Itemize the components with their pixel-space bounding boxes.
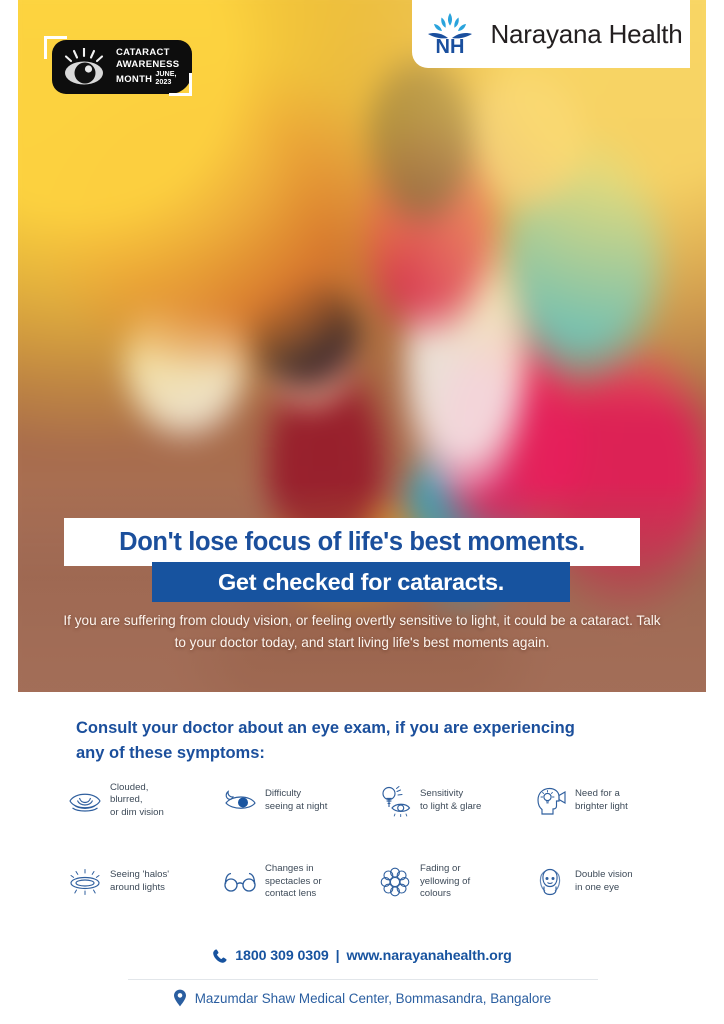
symptom-item-clouded-vision: Clouded,blurred,or dim vision <box>68 782 223 819</box>
symptom-label: Changes inspectacles orcontact lens <box>265 863 322 900</box>
eyeglasses-icon <box>223 865 257 899</box>
colour-flower-icon <box>378 865 412 899</box>
symptom-label: Sensitivityto light & glare <box>420 788 481 813</box>
headline-primary: Don't lose focus of life's best moments. <box>119 528 585 557</box>
symptom-item-double-vision: Double visionin one eye <box>533 863 688 900</box>
symptoms-grid: Clouded,blurred,or dim vision Difficulty… <box>68 782 668 900</box>
footer-separator: | <box>336 948 340 964</box>
symptom-item-colour-fading: Fading oryellowing ofcolours <box>378 863 533 900</box>
open-eye-icon <box>62 48 108 93</box>
svg-text:NH: NH <box>436 36 465 56</box>
footer-website[interactable]: www.narayanahealth.org <box>347 948 512 964</box>
symptom-label: Difficultyseeing at night <box>265 788 327 813</box>
symptom-label: Clouded,blurred,or dim vision <box>110 782 164 819</box>
poster: CATARACT AWARENESS MONTH JUNE, 2023 <box>0 0 724 1024</box>
halo-rings-icon <box>68 865 102 899</box>
footer-divider <box>128 979 598 980</box>
symptoms-heading: Consult your doctor about an eye exam, i… <box>76 716 596 766</box>
badge-line-1: CATARACT <box>116 47 192 59</box>
symptom-label: Fading oryellowing ofcolours <box>420 863 470 900</box>
head-lightbulb-icon <box>533 784 567 818</box>
footer-address-line: Mazumdar Shaw Medical Center, Bommasandr… <box>0 989 724 1007</box>
symptom-item-halos: Seeing 'halos'around lights <box>68 863 223 900</box>
symptom-label: Seeing 'halos'around lights <box>110 869 169 894</box>
double-face-icon <box>533 865 567 899</box>
symptom-item-brighter-light: Need for abrighter light <box>533 782 688 819</box>
symptom-label: Need for abrighter light <box>575 788 628 813</box>
footer-contact-line[interactable]: 1800 309 0309 | www.narayanahealth.org <box>0 948 724 964</box>
badge-line-3: MONTH <box>116 74 152 86</box>
nh-lotus-logo-icon: NH <box>419 12 481 56</box>
cataract-awareness-badge: CATARACT AWARENESS MONTH JUNE, 2023 <box>44 36 192 96</box>
symptom-label: Double visionin one eye <box>575 869 633 894</box>
headline-secondary-bar: Get checked for cataracts. <box>152 562 570 602</box>
night-eye-moon-icon <box>223 784 257 818</box>
badge-line-2: AWARENESS <box>116 59 192 71</box>
footer-phone-number[interactable]: 1800 309 0309 <box>235 948 328 964</box>
badge-date: JUNE, 2023 <box>155 70 192 85</box>
blurred-eye-icon <box>68 784 102 818</box>
symptom-item-spectacle-changes: Changes inspectacles orcontact lens <box>223 863 378 900</box>
phone-icon <box>212 948 228 964</box>
symptom-item-light-sensitivity: Sensitivityto light & glare <box>378 782 533 819</box>
location-pin-icon <box>173 989 187 1007</box>
footer-address-text: Mazumdar Shaw Medical Center, Bommasandr… <box>195 991 552 1006</box>
headline-secondary: Get checked for cataracts. <box>218 569 504 596</box>
badge-text: CATARACT AWARENESS MONTH JUNE, 2023 <box>116 47 192 85</box>
bulb-glare-eye-icon <box>378 784 412 818</box>
headline-primary-bar: Don't lose focus of life's best moments. <box>64 518 640 566</box>
narayana-health-logo: NH Narayana Health <box>412 0 690 68</box>
logo-wordmark: Narayana Health <box>490 19 682 50</box>
hero-subcopy: If you are suffering from cloudy vision,… <box>62 610 662 654</box>
symptom-item-night-vision: Difficultyseeing at night <box>223 782 378 819</box>
